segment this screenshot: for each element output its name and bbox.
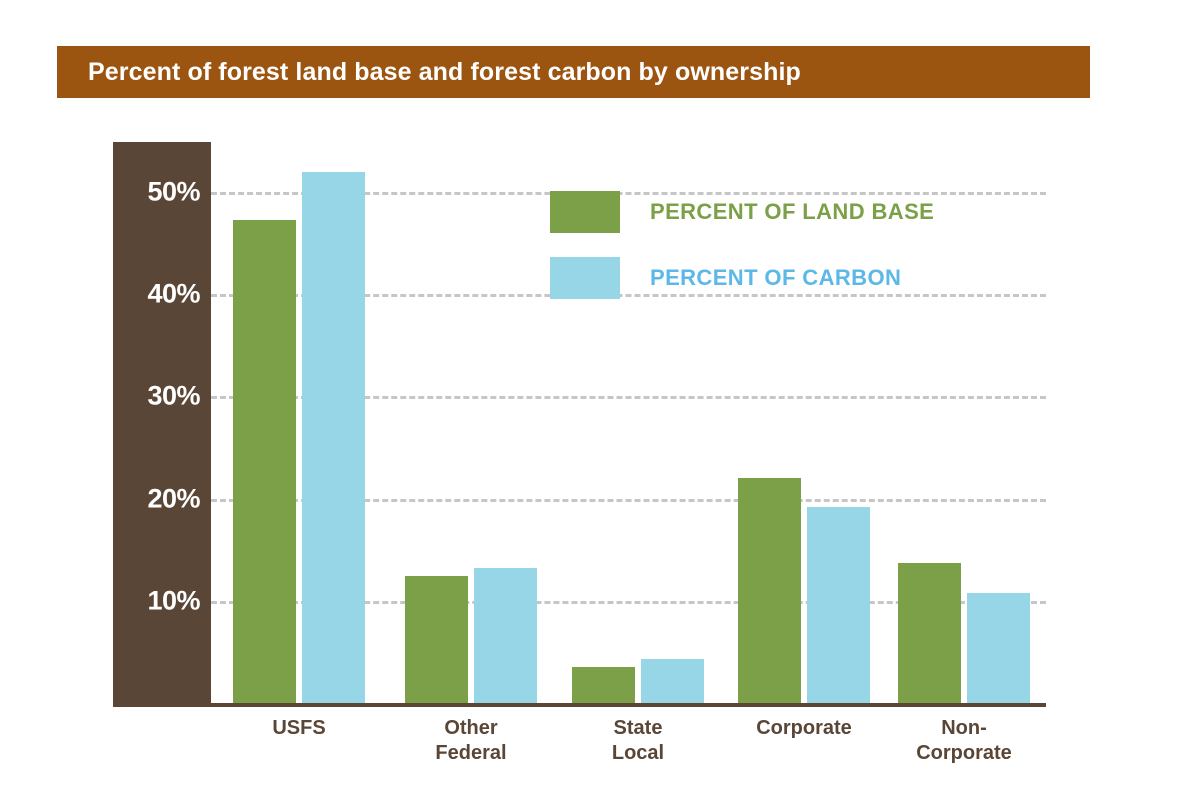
- y-tick-label: 10%: [147, 587, 200, 614]
- y-axis-tick-labels: 10%20%30%40%50%: [0, 0, 1200, 809]
- bar-chart: 10%20%30%40%50% USFSOther FederalState L…: [0, 0, 1200, 809]
- legend-swatch-land-base: [550, 191, 620, 233]
- chart-legend: PERCENT OF LAND BASEPERCENT OF CARBON: [550, 190, 934, 322]
- x-axis-label-0: USFS: [272, 716, 325, 741]
- x-axis-label-1: Other Federal: [435, 716, 506, 766]
- legend-entry-0: PERCENT OF LAND BASE: [550, 190, 934, 234]
- y-tick-label: 20%: [147, 485, 200, 512]
- legend-label-1: PERCENT OF CARBON: [650, 265, 901, 291]
- x-axis-label-3: Corporate: [756, 716, 852, 741]
- x-axis-label-2: State Local: [612, 716, 664, 766]
- legend-label-0: PERCENT OF LAND BASE: [650, 199, 934, 225]
- x-axis-label-4: Non- Corporate: [916, 716, 1012, 766]
- y-tick-label: 50%: [147, 179, 200, 206]
- y-tick-label: 40%: [147, 281, 200, 308]
- legend-entry-1: PERCENT OF CARBON: [550, 256, 934, 300]
- y-tick-label: 30%: [147, 383, 200, 410]
- legend-swatch-carbon: [550, 257, 620, 299]
